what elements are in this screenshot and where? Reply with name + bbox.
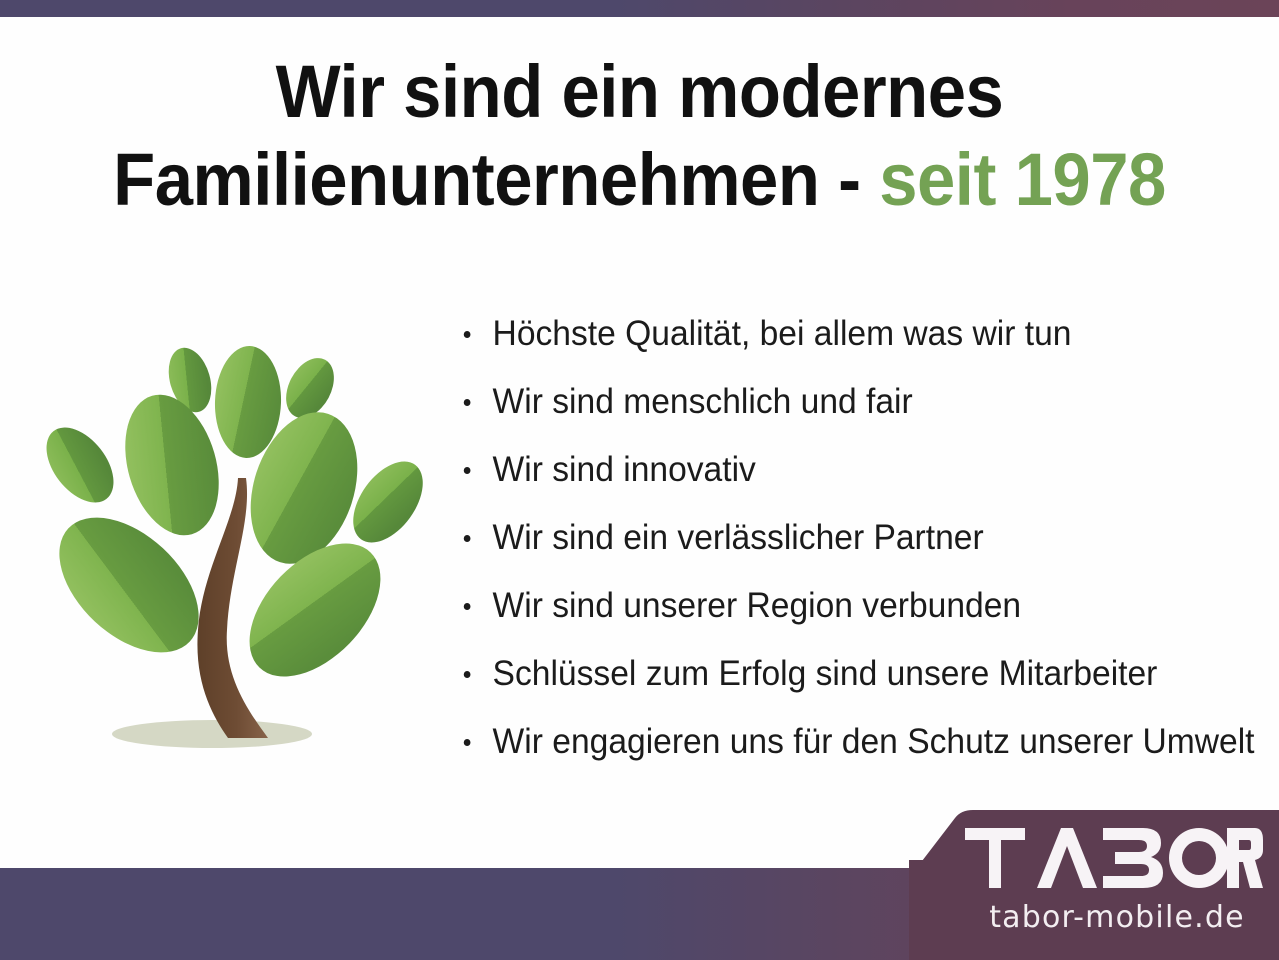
headline-line-2: Familienunternehmen - seit 1978 xyxy=(45,136,1234,224)
list-item: Wir engagieren uns für den Schutz unsere… xyxy=(458,708,1236,776)
list-item: Schlüssel zum Erfolg sind unsere Mitarbe… xyxy=(458,640,1236,708)
list-item: Wir sind unserer Region verbunden xyxy=(458,572,1236,640)
headline-line-1: Wir sind ein modernes xyxy=(45,48,1234,136)
list-item: Wir sind menschlich und fair xyxy=(458,368,1236,436)
brand-logo-block: tabor-mobile.de xyxy=(899,800,1279,960)
logo-tagline: tabor-mobile.de xyxy=(969,900,1265,935)
top-accent-bar xyxy=(0,0,1279,17)
headline-accent-year: seit 1978 xyxy=(879,138,1166,221)
logo-wordmark xyxy=(963,824,1263,890)
page-title: Wir sind ein modernes Familienunternehme… xyxy=(45,48,1234,224)
tree-shadow xyxy=(112,720,312,748)
list-item: Höchste Qualität, bei allem was wir tun xyxy=(458,300,1236,368)
value-bullet-list: Höchste Qualität, bei allem was wir tun … xyxy=(458,300,1268,776)
headline-line-2-plain: Familienunternehmen - xyxy=(113,138,879,221)
tree-illustration xyxy=(22,330,442,760)
list-item: Wir sind ein verlässlicher Partner xyxy=(458,504,1236,572)
list-item: Wir sind innovativ xyxy=(458,436,1236,504)
slide-canvas: Wir sind ein modernes Familienunternehme… xyxy=(0,0,1279,960)
